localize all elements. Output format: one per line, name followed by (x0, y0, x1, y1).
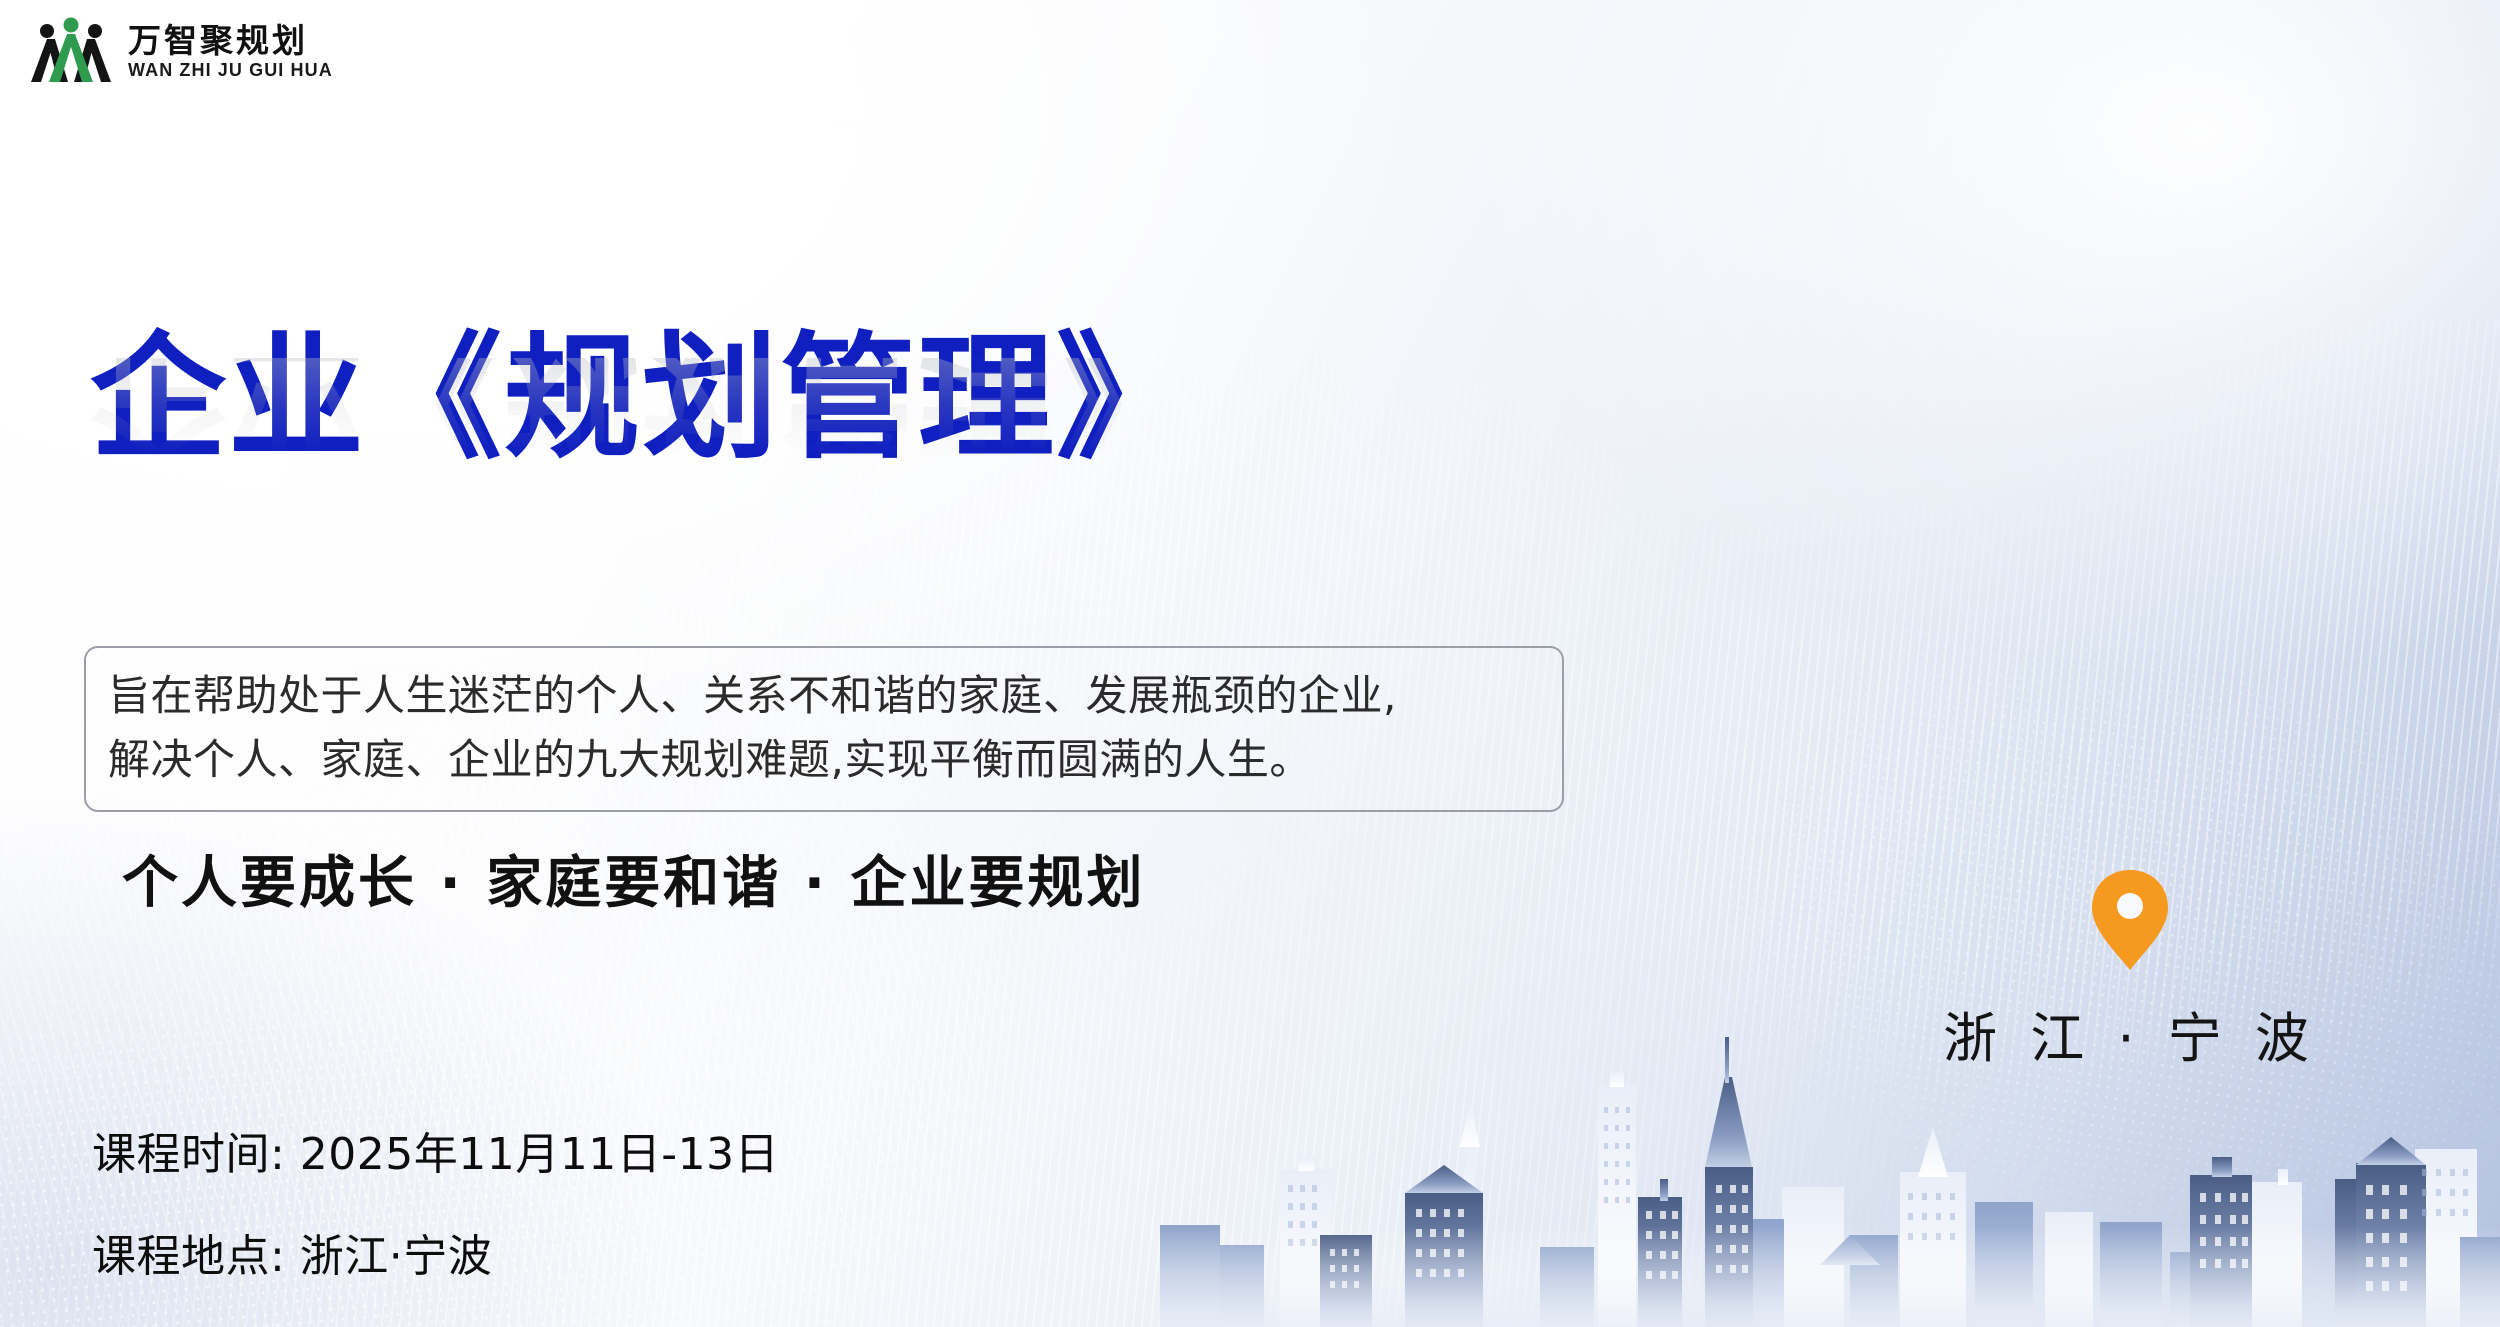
location-label: 浙 江 · 宁 波 (1943, 994, 2317, 1073)
description-box: 旨在帮助处于人生迷茫的个人、关系不和谐的家庭、发展瓶颈的企业, 解决个人、家庭、… (84, 646, 1564, 812)
poster-canvas: 万智聚规划 WAN ZHI JU GUI HUA 企业《规划管理》 企业《规划管… (0, 0, 2500, 1327)
course-place-line: 课程地点: 浙江·宁波 (92, 1220, 779, 1284)
course-time-line: 课程时间: 2025年11月11日-13日 (92, 1118, 779, 1182)
location-block: 浙 江 · 宁 波 (1930, 868, 2330, 1073)
description-line-1: 旨在帮助处于人生迷茫的个人、关系不和谐的家庭、发展瓶颈的企业, (108, 664, 1540, 728)
three-people-logo-icon (28, 16, 114, 86)
map-pin-icon (2088, 868, 2172, 972)
page-title-reflection: 企业《规划管理》 (90, 358, 1490, 468)
description-line-2: 解决个人、家庭、企业的九大规划难题,实现平衡而圆满的人生。 (108, 728, 1540, 792)
brand-logo[interactable]: 万智聚规划 WAN ZHI JU GUI HUA (28, 16, 333, 86)
hero-title-block: 企业《规划管理》 企业《规划管理》 (90, 330, 1490, 578)
schedule-info: 课程时间: 2025年11月11日-13日 课程地点: 浙江·宁波 (92, 1118, 779, 1284)
tagline: 个人要成长 · 家庭要和谐 · 企业要规划 (122, 838, 1146, 919)
brand-name-en: WAN ZHI JU GUI HUA (128, 61, 333, 79)
brand-name-cn: 万智聚规划 (128, 24, 333, 57)
